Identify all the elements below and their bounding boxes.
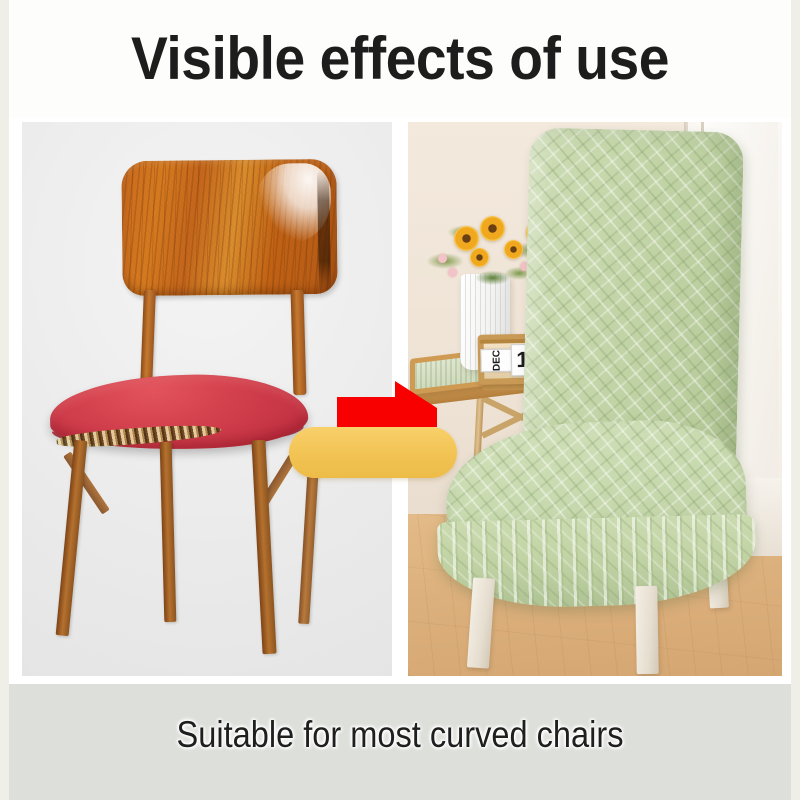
left-page-edge bbox=[0, 0, 9, 800]
covered-chair-backrest bbox=[522, 127, 744, 462]
sunflower-icon bbox=[454, 226, 479, 251]
sunflower-icon bbox=[480, 216, 505, 241]
page-caption: Suitable for most curved chairs bbox=[48, 712, 752, 758]
old-chair-backrest-shadow-edge bbox=[317, 170, 331, 292]
right-page-edge bbox=[791, 0, 800, 800]
right-arrow-icon bbox=[337, 381, 437, 427]
pink-blossom-icon bbox=[438, 254, 447, 263]
sunflower-icon bbox=[504, 240, 523, 259]
pink-blossom-icon bbox=[448, 268, 457, 277]
sunflower-icon bbox=[470, 248, 489, 267]
covered-chair-leg-front-right bbox=[635, 586, 659, 674]
calendar-month-card: DEC bbox=[480, 349, 512, 373]
promo-page: Visible effects of use bbox=[0, 0, 800, 800]
page-title: Visible effects of use bbox=[32, 24, 768, 94]
old-chair-backrest bbox=[121, 159, 337, 296]
yellow-pill-banner bbox=[289, 427, 457, 478]
after-photo: DEC 1 8 bbox=[408, 122, 782, 676]
